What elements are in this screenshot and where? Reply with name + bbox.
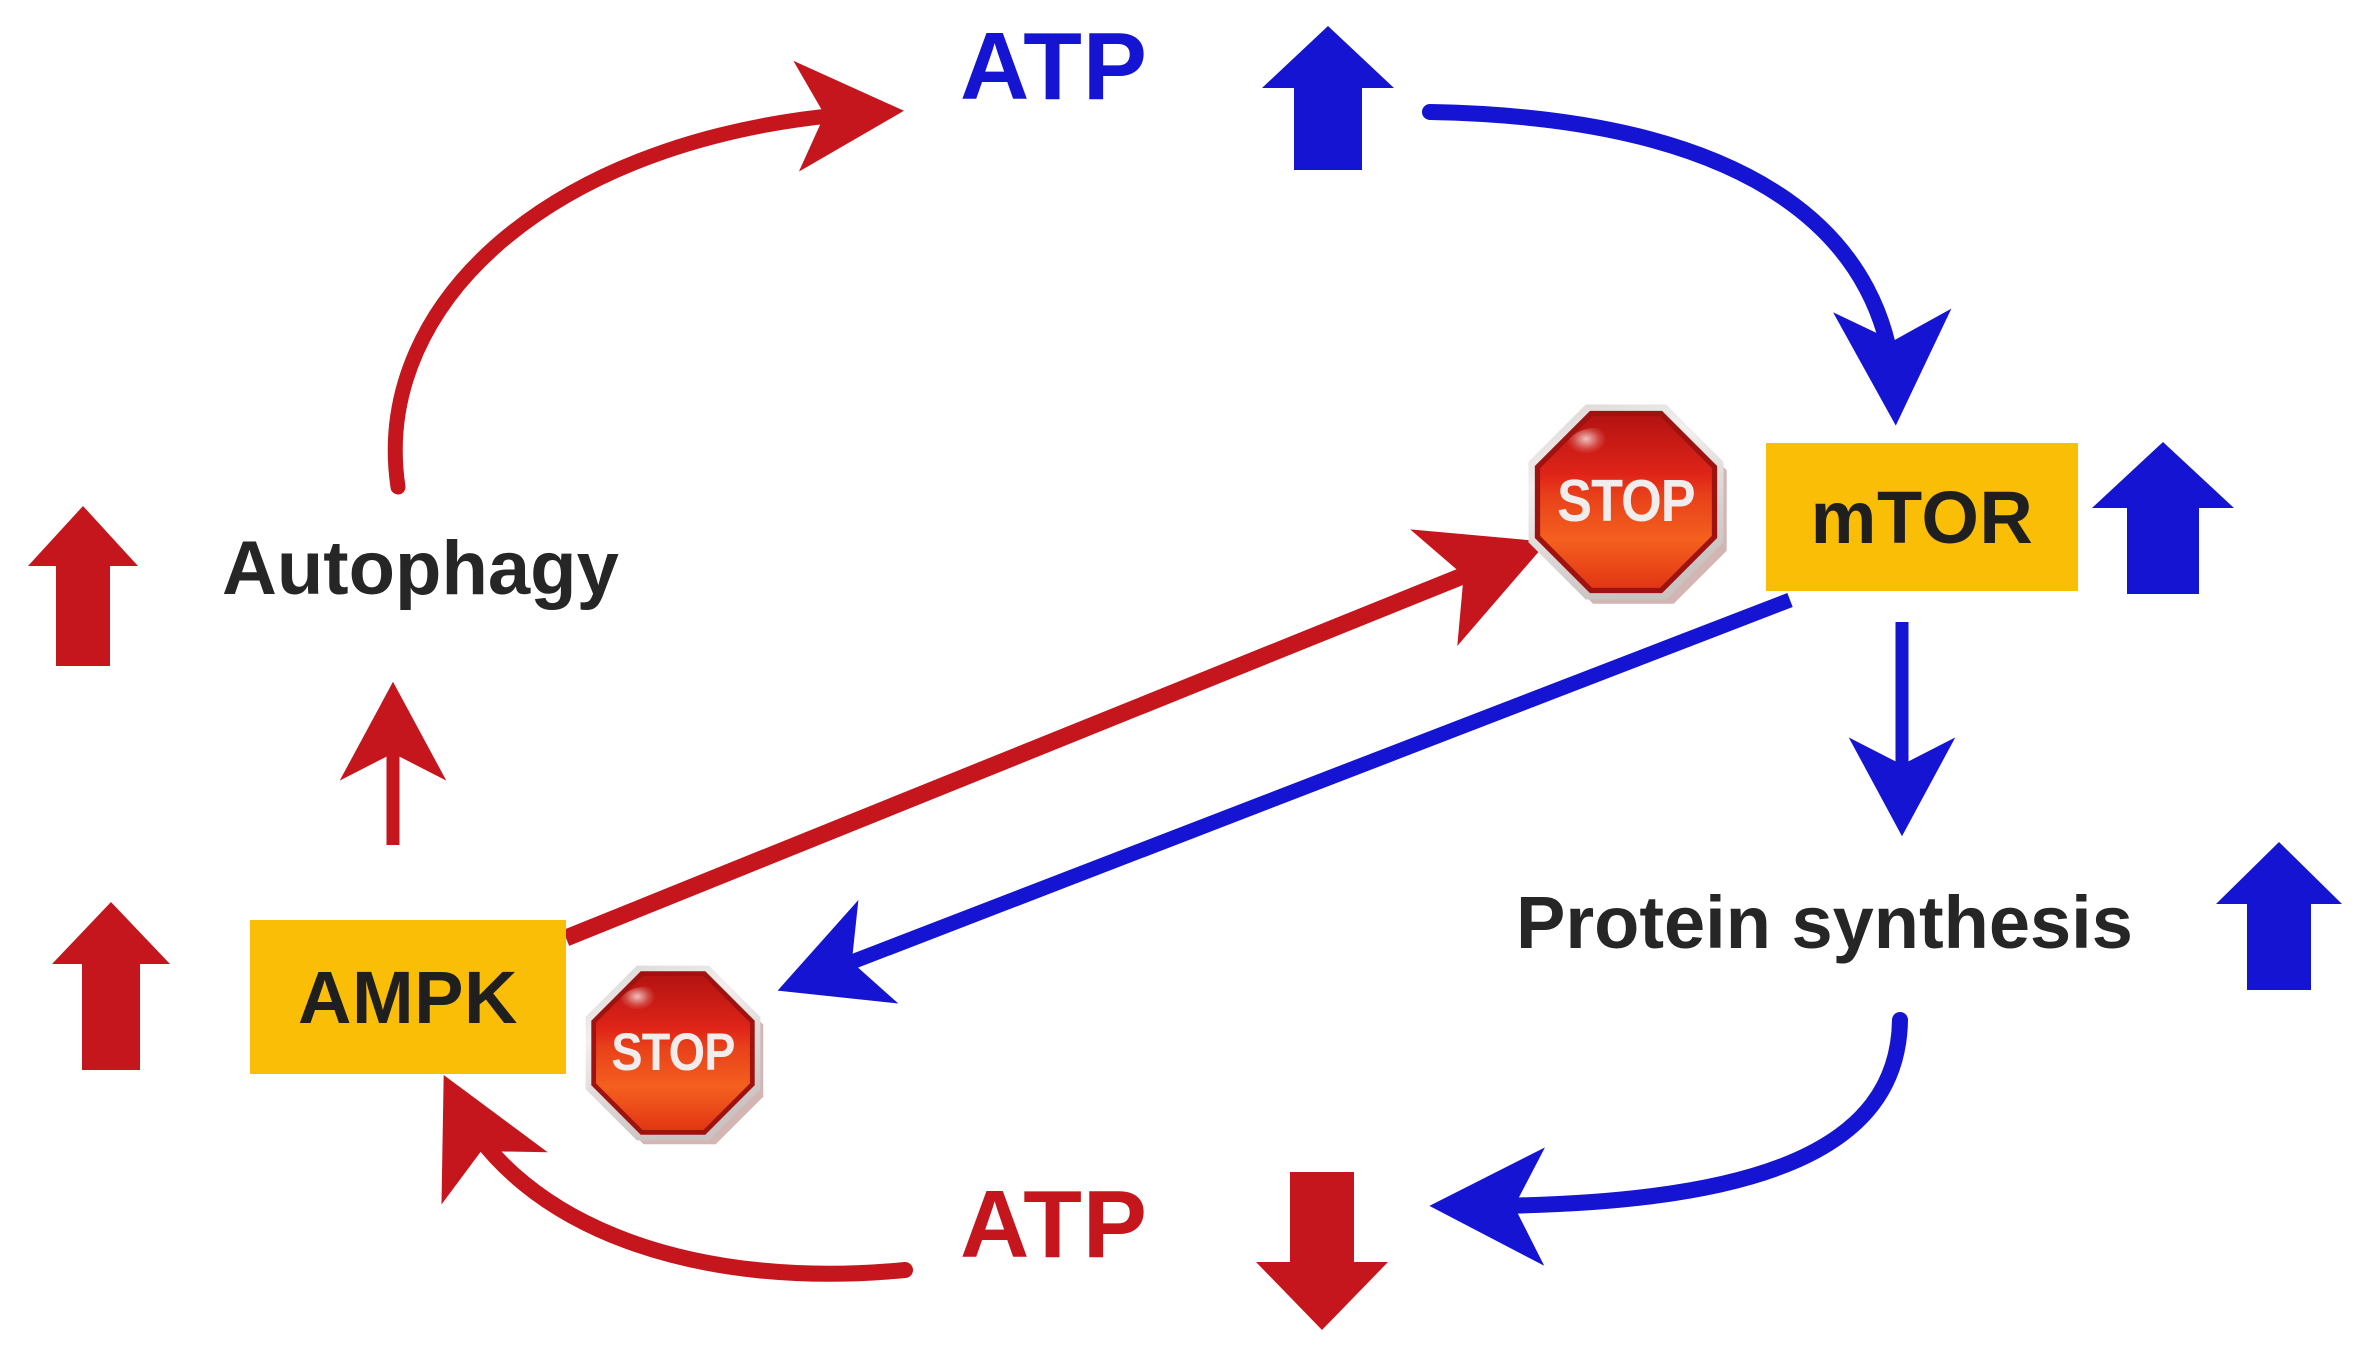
stop-sign-mtor-icon[interactable]: STOP [1520,396,1732,608]
edge-autophagy-to-atp [395,112,880,487]
stop-sign-ampk-icon[interactable]: STOP [578,958,768,1148]
indicator-up-arrow-atp-top-icon [1258,22,1398,174]
node-atp-top-label: ATP [960,12,1148,122]
node-mtor[interactable]: mTOR [1766,443,2078,591]
indicator-up-arrow-mtor-icon [2088,438,2238,598]
indicator-up-arrow-ampk-icon [48,898,174,1074]
node-protein-synthesis-label: Protein synthesis [1516,880,2133,965]
indicator-up-arrow-protein-synthesis-icon [2212,838,2346,994]
node-mtor-label: mTOR [1811,475,2034,560]
edge-atp-to-mtor [1430,112,1895,400]
stop-sign-mtor-label: STOP [1557,467,1695,534]
stop-sign-ampk-label: STOP [611,1022,734,1081]
connector-layer [0,0,2360,1364]
indicator-up-arrow-autophagy-icon [24,502,142,670]
edge-protein-to-atp-down [1455,1020,1900,1206]
node-ampk-label: AMPK [298,955,518,1040]
node-ampk[interactable]: AMPK [250,920,566,1074]
pathway-diagram-canvas: mTOR AMPK Autophagy Protein synthesis AT… [0,0,2360,1364]
node-atp-bottom-label: ATP [960,1170,1148,1280]
indicator-down-arrow-atp-bottom-icon [1252,1168,1392,1334]
node-autophagy-label: Autophagy [222,525,619,612]
